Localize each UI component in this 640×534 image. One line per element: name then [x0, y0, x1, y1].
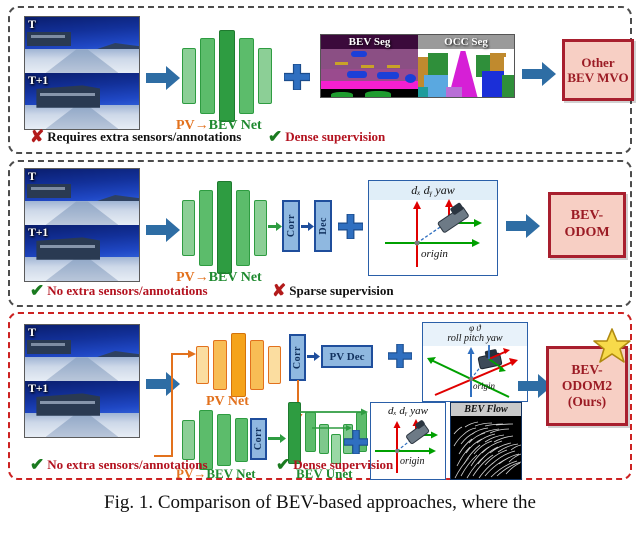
plus-icon-2 — [338, 214, 363, 239]
plus-icon-3a — [388, 344, 412, 368]
footer-text: No extra sensors/annotations — [47, 283, 207, 299]
bev-seg-caption: BEV Seg — [321, 36, 418, 48]
footer-item-dense-supervision: ✔ Dense supervision — [268, 128, 385, 145]
origin-label-3d: origin — [473, 381, 496, 391]
arrow-input-to-net-1 — [146, 66, 180, 90]
frame-label-t1: T+1 — [28, 225, 48, 240]
input-image-stack-2: T T+1 — [24, 168, 140, 282]
pv-bev-net-1 — [182, 26, 278, 118]
cross-icon: ✘ — [30, 128, 44, 145]
frame-label-t: T — [28, 325, 36, 340]
input-frame-t: T — [25, 325, 139, 381]
footer-text: No extra sensors/annotations — [47, 457, 207, 473]
footer-item-no-extra-sensors-3: ✔ No extra sensors/annotations — [30, 456, 208, 473]
input-image-stack-3: T T+1 — [24, 324, 140, 438]
pv-net-blocks — [196, 332, 286, 394]
footer-item-dense-supervision-3: ✔ Dense supervision — [276, 456, 393, 473]
arrow-to-output-2 — [506, 214, 540, 238]
frame-label-t1: T+1 — [28, 73, 48, 88]
check-icon: ✔ — [30, 282, 44, 299]
arrow-net-to-corr — [268, 222, 282, 231]
plus-icon-3b — [344, 430, 368, 454]
segmentation-image-pair: BEV Seg OCC Seg — [320, 34, 515, 98]
pose-caption: dₓ dᵧ yaw — [369, 183, 497, 198]
svg-text:origin: origin — [421, 248, 448, 260]
pv-corr-block[interactable]: Corr — [289, 334, 306, 381]
occ-seg-caption: OCC Seg — [418, 36, 514, 48]
output-line-2: BEV MVO — [567, 70, 628, 85]
corr-block-2[interactable]: Corr — [282, 200, 300, 252]
origin-label-2d: origin — [400, 456, 424, 467]
bev-flow-image: BEV Flow — [450, 402, 522, 480]
pose-caption-line1: φ ϑ — [423, 323, 527, 333]
input-frame-t1: T+1 — [25, 225, 139, 281]
output-line-1: Other — [581, 55, 614, 70]
panel-bev-odom: T T+1 PV→BEV Net Corr — [8, 160, 632, 307]
input-frame-t: T — [25, 17, 139, 73]
input-frame-t1: T+1 — [25, 381, 139, 437]
footer-text: Sparse supervision — [289, 283, 393, 299]
output-box-other-bev-mvo[interactable]: Other BEV MVO — [562, 39, 634, 101]
frame-label-t1: T+1 — [28, 381, 48, 396]
bev-flow-caption: BEV Flow — [451, 403, 521, 416]
bev-corr-block[interactable]: Corr — [250, 418, 267, 460]
input-frame-t1: T+1 — [25, 73, 139, 129]
pose-caption: dₓ dᵧ yaw — [371, 405, 445, 417]
figure-caption: Fig. 1. Comparison of BEV-based approach… — [0, 492, 640, 514]
pose-caption-line2: roll pitch yaw — [423, 333, 527, 344]
arrow-corr-to-pvdec — [307, 352, 320, 361]
output-line-2: ODOM — [564, 225, 609, 242]
arrow-corr-to-unet — [268, 434, 286, 443]
footer-item-sparse-supervision: ✘ Sparse supervision — [272, 282, 394, 299]
footer-text: Dense supervision — [285, 129, 385, 145]
pose-diagram-3d: φ ϑ roll pitch yaw or — [422, 322, 528, 402]
panel-other-bev-mvo: T T+1 PV→BEV Net — [8, 6, 632, 154]
footer-item-no-extra-sensors: ✔ No extra sensors/annotations — [30, 282, 208, 299]
footer-text: Dense supervision — [293, 457, 393, 473]
check-icon: ✔ — [30, 456, 44, 473]
arrow-corr-to-dec — [301, 222, 314, 231]
arrow-input-to-net-2 — [146, 218, 180, 242]
arrow-to-output-1 — [522, 62, 556, 86]
panel-bev-odom2-ours: T T+1 PV Net Corr — [8, 312, 632, 480]
figure-root: T T+1 PV→BEV Net — [0, 0, 640, 534]
frame-label-t: T — [28, 169, 36, 184]
footer-text: Requires extra sensors/annotations — [47, 129, 241, 145]
bev-seg-image: BEV Seg — [321, 35, 418, 97]
check-icon: ✔ — [276, 456, 290, 473]
plus-icon-1 — [284, 64, 310, 90]
occ-seg-image: OCC Seg — [418, 35, 514, 97]
output-line-3: (Ours) — [568, 394, 606, 410]
output-line-1: BEV- — [571, 208, 603, 225]
dec-block-2[interactable]: Dec — [314, 200, 332, 252]
check-icon: ✔ — [268, 128, 282, 145]
frame-label-t: T — [28, 17, 36, 32]
star-icon — [592, 327, 632, 372]
footer-item-requires-sensors: ✘ Requires extra sensors/annotations — [30, 128, 241, 145]
pv-dec-block[interactable]: PV Dec — [321, 345, 373, 368]
pv-bev-net-2 — [182, 178, 278, 270]
cross-icon: ✘ — [272, 282, 286, 299]
output-box-bev-odom[interactable]: BEV- ODOM — [548, 192, 626, 258]
input-frame-t: T — [25, 169, 139, 225]
input-image-stack-1: T T+1 — [24, 16, 140, 130]
output-line-2: ODOM2 — [562, 378, 612, 394]
pose-diagram-2d: dₓ dᵧ yaw — [368, 180, 498, 276]
